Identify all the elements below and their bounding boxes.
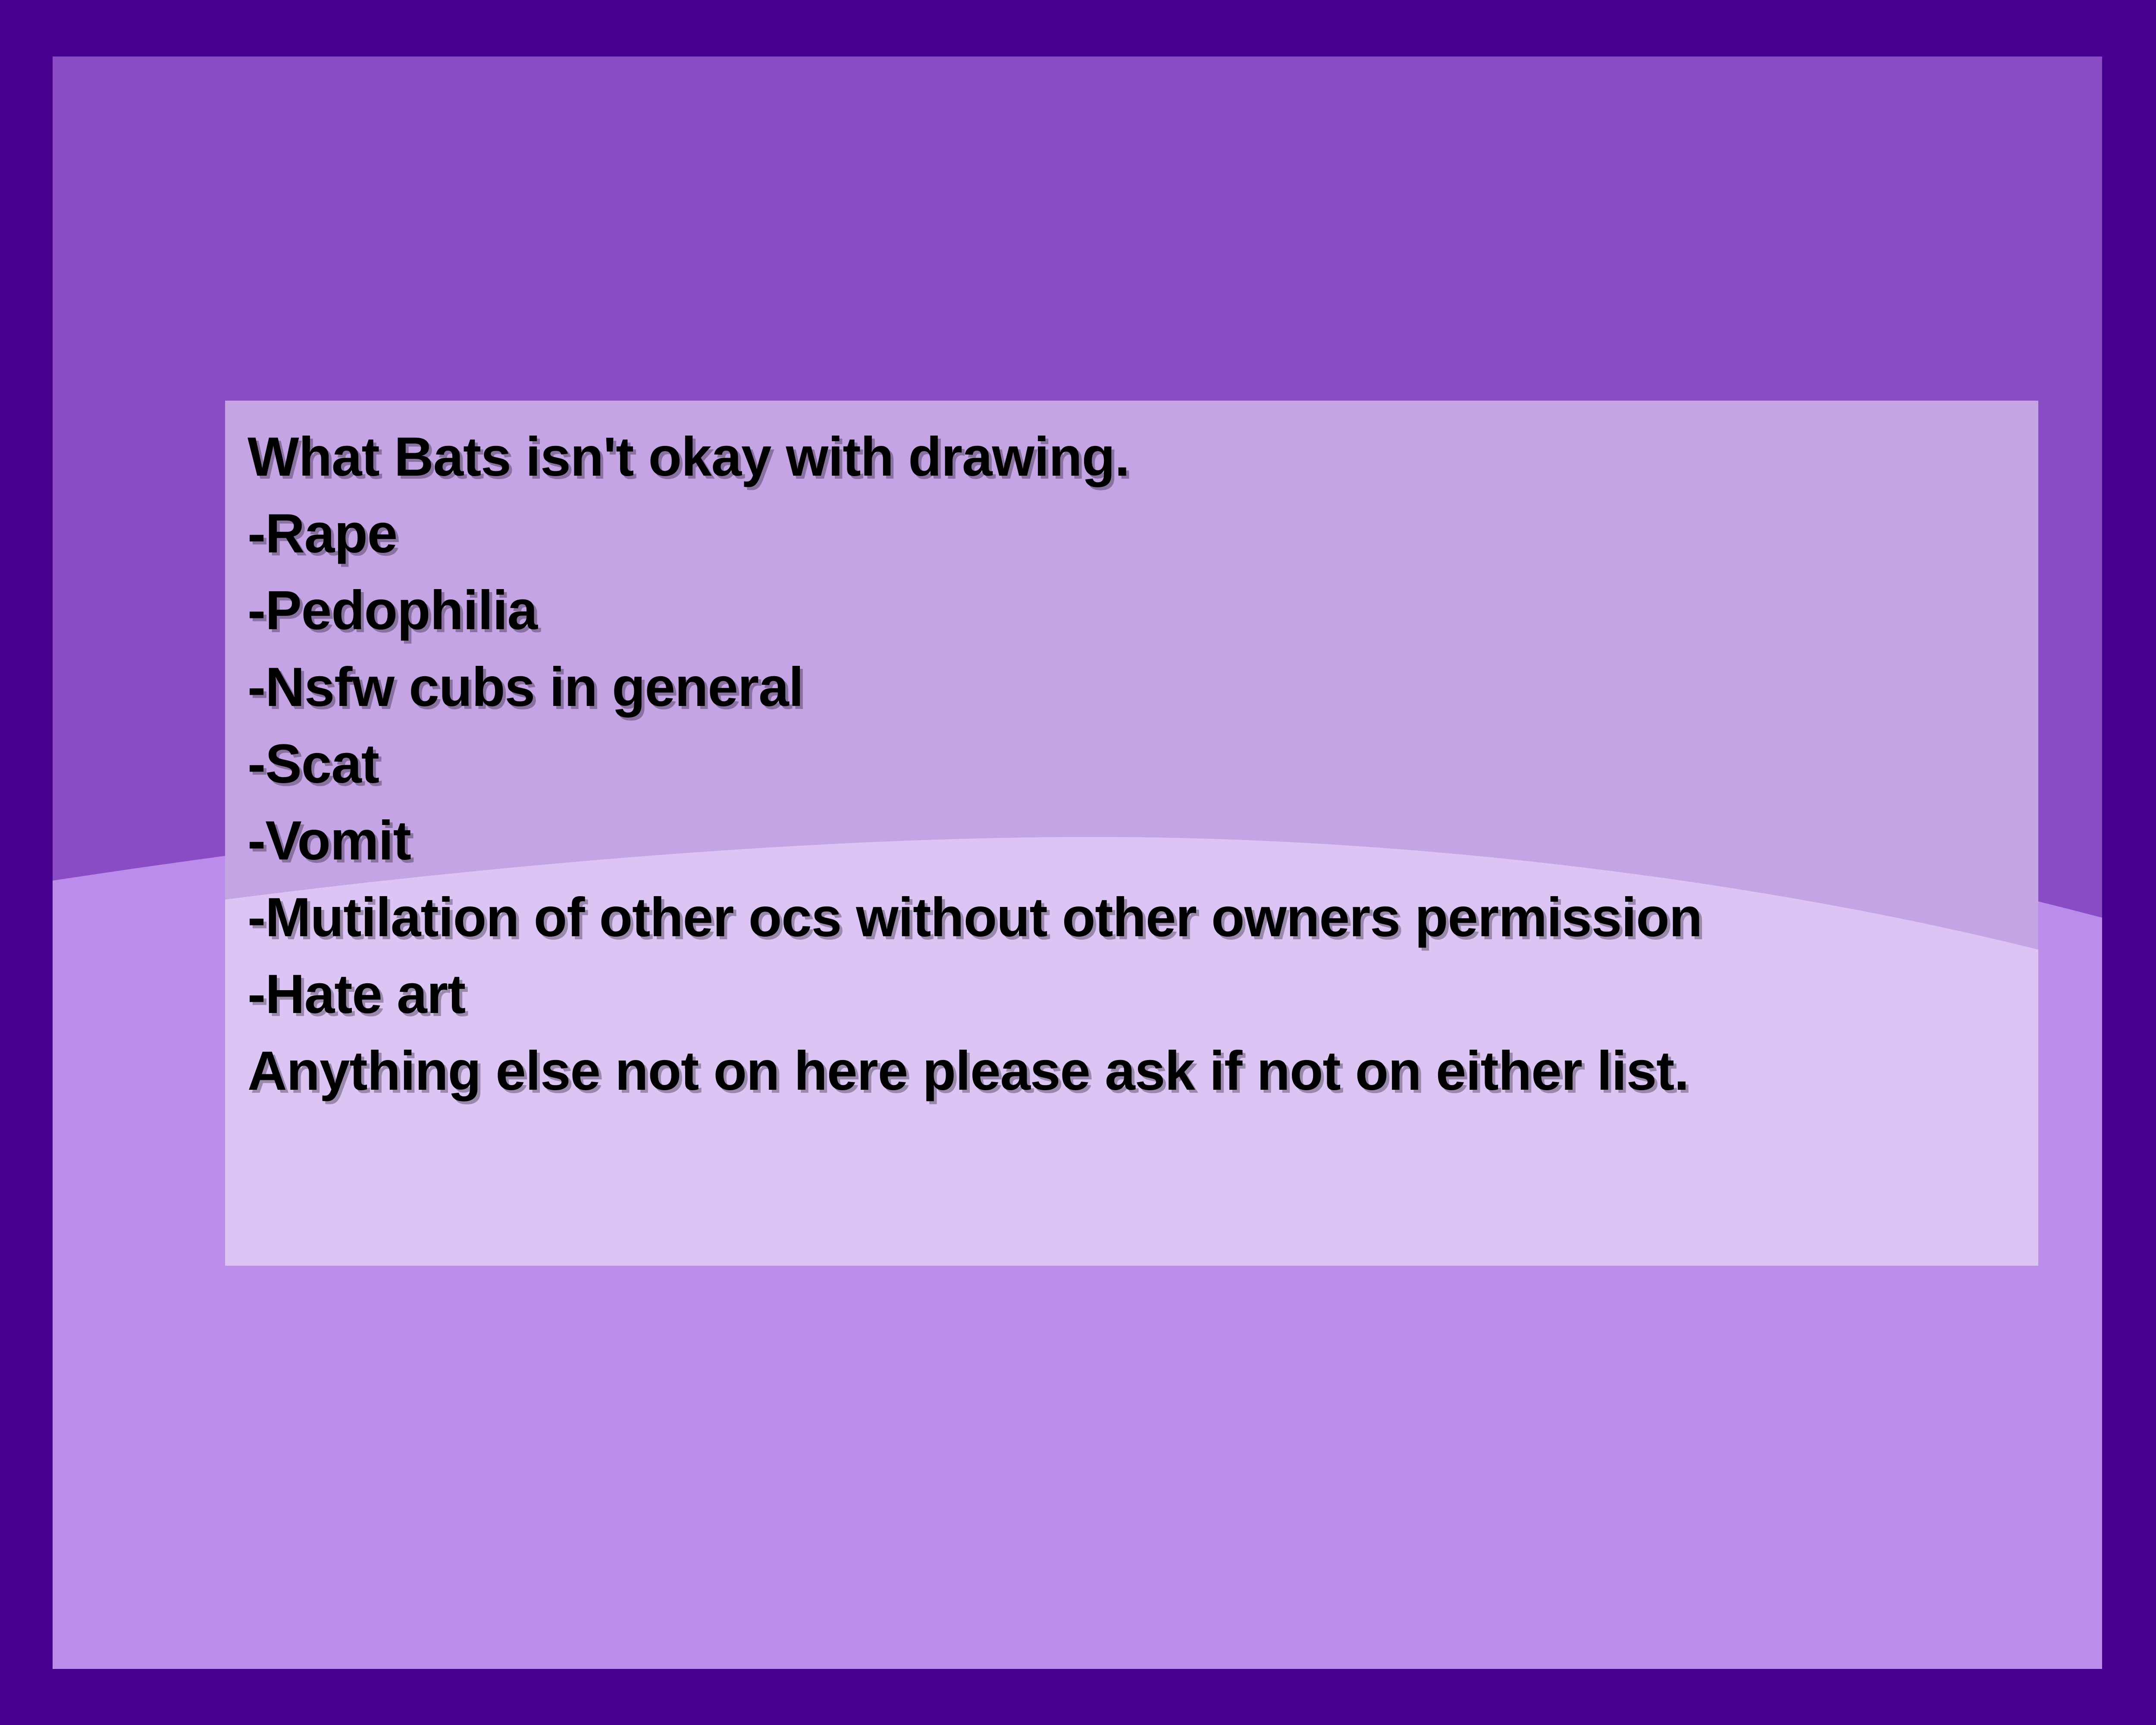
slide-panel: What Bats isn't okay with drawing. -Rape… [53,56,2102,1669]
textbox-line-closing: Anything else not on here please ask if … [248,1033,2020,1110]
textbox-line-item-4: -Scat [248,726,2020,803]
textbox-line-title: What Bats isn't okay with drawing. [248,419,2020,496]
textbox-line-item-1: -Rape [248,496,2020,572]
textbox-line-item-3: -Nsfw cubs in general [248,649,2020,726]
textbox-line-item-2: -Pedophilia [248,572,2020,649]
textbox-line-item-6: -Mutilation of other ocs without other o… [248,879,2020,956]
content-textbox: What Bats isn't okay with drawing. -Rape… [225,401,2038,1266]
page-root: What Bats isn't okay with drawing. -Rape… [0,0,2156,1725]
textbox-line-item-5: -Vomit [248,803,2020,879]
textbox-line-item-7: -Hate art [248,956,2020,1033]
textbox-text-block: What Bats isn't okay with drawing. -Rape… [225,401,2038,1266]
